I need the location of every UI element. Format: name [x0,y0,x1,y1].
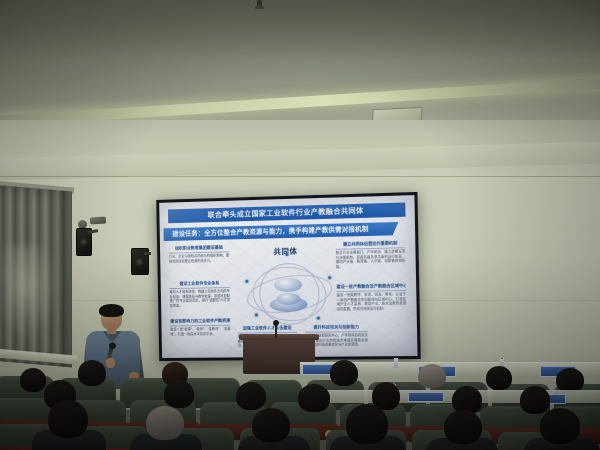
box-divider [169,251,229,253]
sprinkler-icon [257,0,262,7]
audience-head [556,368,584,392]
box-heading: 建设一批产教融合及产教融合区域中心 [336,283,406,290]
audience-head [486,366,512,390]
box-divider [305,331,368,332]
orbit-node [255,313,258,316]
audience-head [346,404,388,444]
slide-box-mid-left: 建设工业软件专业体系 推动人才培养改革，构建工业软件方向的专业标准、课程体系与教… [169,280,230,308]
curtain-light-glow [2,244,58,345]
slide-box-mid-right: 建设一批产教融合及产教融合区域中心 建设一批集教学、实训、研发、孵化、认证于一体… [336,283,406,311]
audience-head [540,408,580,444]
audience-area [0,358,600,450]
box-heading: 组织职业教育集团建设基础 [169,244,229,251]
box-divider [336,290,405,292]
orbit-node [245,280,248,283]
orbit-node [286,253,289,256]
orbit-node [328,276,331,279]
lecture-hall-photo: 联合牵头成立国家工业软件行业产教融合共同体 建设任务：全方位整合产教资源与能力，… [0,0,600,450]
audience-head [330,360,358,386]
box-body: 行业、企业与院校共同参与的组织架构，围绕共同目标整合资源形成合力。 [169,254,229,264]
lectern-microphone-icon [275,324,277,338]
box-divider [169,287,229,289]
audience-head [418,364,446,388]
box-heading: 提升科技攻关与创新能力 [305,324,368,330]
box-body: 建设一批集教学、实训、研发、孵化、认证于一体的产教融合实训基地与区域中心，打造区… [337,292,407,311]
slide-box-top-right: 建立共同体运营运作重要机制 整合行业主管部门、产学研用，建立定期议事与决策机制，… [336,240,406,269]
box-heading: 建设有影响力的工业软件产教资源 [170,318,230,324]
slide-box-top-left: 组织职业教育集团建设基础 行业、企业与院校共同参与的组织架构，围绕共同目标整合资… [169,244,230,263]
audience-head [236,382,266,410]
box-heading: 建设工业软件专业体系 [169,280,229,286]
speaker-bracket [144,252,151,255]
community-core-shape [269,277,308,312]
audience-head [252,408,290,442]
audience-head [520,386,550,414]
slide-box-bottom-left: 建设有影响力的工业软件产教资源 建设一批“金课”、“金师”、“金教材”、“金基地… [170,318,231,337]
box-divider [170,325,230,326]
audience-head [146,406,184,440]
audience-head [20,368,46,392]
box-divider [238,332,298,333]
box-heading: 加强工业软件人才队伍建设 [237,325,297,331]
lectern-top [239,334,319,340]
audience-head [164,380,194,408]
box-body: 整合行业主管部门、产学研用，建立定期议事与决策机制，形成共建共享共赢的运行体系，… [336,250,406,269]
orbit-node [317,317,320,320]
box-heading: 建立共同体运营运作重要机制 [336,240,406,247]
audience-head [48,400,88,438]
audience-head [444,410,482,444]
box-body: 建设一批“金课”、“金师”、“金教材”、“金基地”，打造一批高水平实训平台。 [170,327,231,336]
camera-mount-arm [90,216,106,224]
ceiling-shadow [0,0,600,60]
audience-head [78,360,106,386]
box-body: 推动人才培养改革，构建工业软件方向的专业标准、课程体系与教学资源，形成可复制推广… [169,289,230,307]
nameplate [408,392,444,402]
water-bottle [394,358,398,368]
audience-head [298,384,330,412]
presenter-hair [99,304,124,317]
wall-seam [0,176,600,177]
community-orbit-diagram [246,254,331,331]
